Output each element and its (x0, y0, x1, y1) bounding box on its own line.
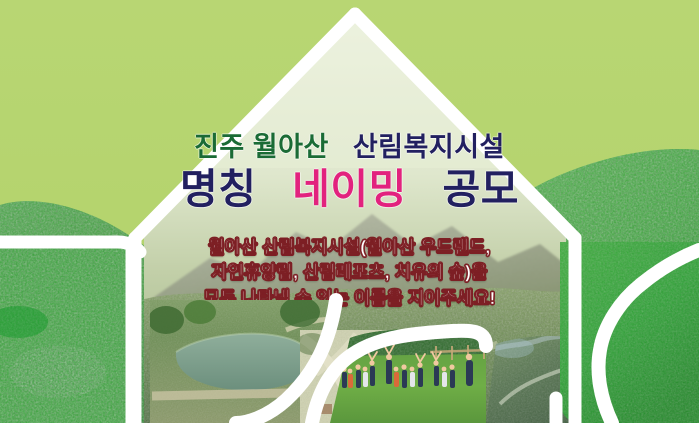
photo-strip (0, 0, 699, 423)
photo-forest-canopy (0, 238, 140, 423)
poster-canvas: 진주 월아산 산림복지시설 명칭 네이밍 공모 월아산 산림복지시설(월아산 우… (0, 0, 699, 423)
